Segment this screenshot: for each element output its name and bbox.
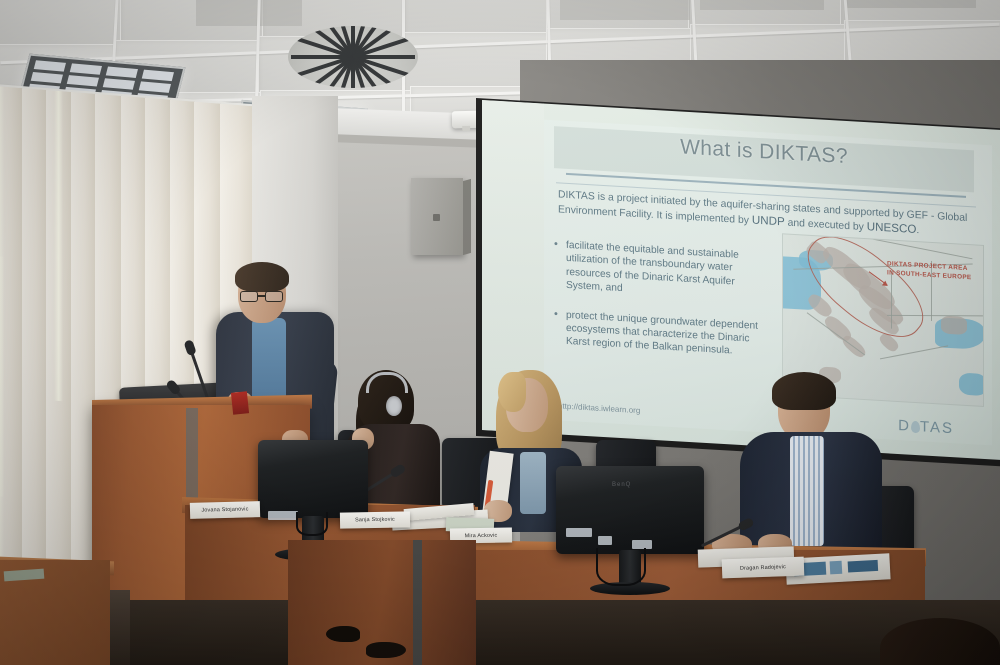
intro-undp: UNDP — [752, 214, 785, 229]
slide-bullet-item: • protect the unique groundwater depende… — [554, 308, 769, 361]
eyeglasses-icon — [240, 291, 282, 301]
monitor-brand-label: BenQ — [612, 482, 631, 488]
nameplate-text: Dragan Radojevic — [740, 564, 786, 572]
panelist-right-hair — [772, 372, 836, 410]
intro-part-2: and executed by — [785, 218, 867, 234]
diktas-logo: DTAS — [898, 417, 954, 437]
slide-intro-paragraph: DIKTAS is a project initiated by the aqu… — [558, 188, 972, 241]
monitor-cable — [296, 512, 328, 536]
air-diffuser-icon — [288, 26, 418, 88]
presenter-hair — [235, 262, 289, 292]
nameplate-text: Jovana Stojanovic — [201, 506, 248, 513]
panelist-center-blouse — [520, 452, 546, 514]
headset-earcup-icon — [386, 396, 402, 416]
presentation-slide: What is DIKTAS? DIKTAS is a project init… — [544, 120, 992, 446]
intro-unesco: UNESCO — [867, 220, 917, 236]
bullet-text: facilitate the equitable and sustainable… — [566, 239, 769, 304]
nameplate: Jovana Stojanovic — [190, 501, 260, 519]
nameplate-text: Mira Ackovic — [465, 532, 498, 539]
panelist-center-hair-front — [498, 372, 526, 412]
microphone-flag — [231, 391, 249, 415]
panelist-right-striped-shirt — [790, 436, 824, 546]
water-drop-icon — [911, 421, 920, 434]
nameplate: Sanja Stojkovic — [340, 511, 410, 528]
slide-footer-url: http://diktas.iwlearn.org — [558, 401, 640, 415]
shoe — [326, 626, 360, 642]
bullet-text: protect the unique groundwater dependent… — [566, 308, 769, 360]
panel-monitor-right[interactable]: BenQ — [556, 466, 704, 554]
conference-room-photo: What is DIKTAS? DIKTAS is a project init… — [0, 0, 1000, 665]
floor — [0, 600, 1000, 665]
intro-part-3: . — [916, 225, 919, 236]
nameplate: Dragan Radojevic — [722, 557, 805, 579]
panel-monitor-left[interactable] — [258, 440, 368, 518]
shoe — [366, 642, 406, 658]
slide-bullet-item: • facilitate the equitable and sustainab… — [554, 238, 769, 304]
logo-text-left: D — [898, 417, 911, 435]
bullet-dot-icon: • — [554, 238, 566, 292]
bullet-dot-icon: • — [554, 308, 566, 349]
wall-speaker — [411, 178, 463, 255]
logo-text-right: TAS — [920, 418, 954, 437]
slide-bullet-list: • facilitate the equitable and sustainab… — [554, 238, 769, 376]
monitor-cable — [596, 548, 646, 586]
nameplate-text: Sanja Stojkovic — [355, 517, 395, 524]
